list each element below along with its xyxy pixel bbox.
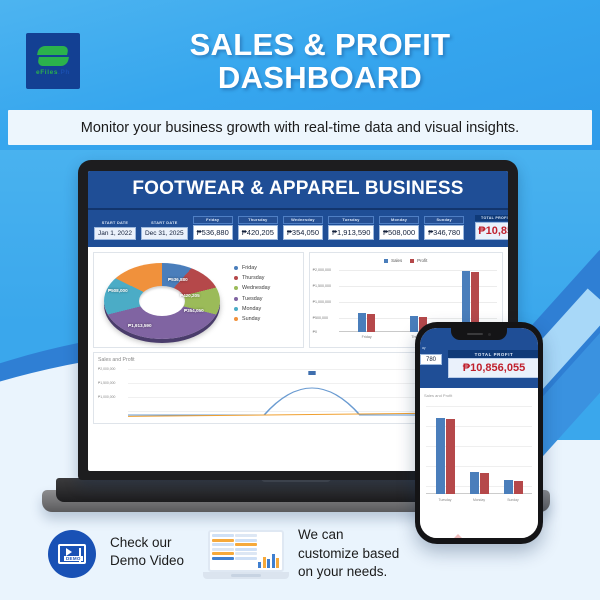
phone-xlabel-monday: Monday [473,498,485,502]
phone-xlabel-sunday: Sunday [507,498,519,502]
demo-badge-label: DEMO [64,556,83,561]
bar-chart-legend: Sales Profit [313,258,499,263]
brand-name: eFiles [36,69,58,76]
bar-friday-sales [358,313,366,332]
kpi-card-sunday-label: Sunday [424,216,464,224]
bar-group-thursday: Thursday [410,268,427,332]
kpi-card-thursday-value: ₱420,205 [238,225,278,240]
kpi-card-monday-label: Monday [379,216,419,224]
demo-video-button[interactable]: DEMO [48,530,96,578]
kpi-card-thursday: Thursday ₱420,205 [238,216,278,240]
phone-mockup: ay 780 TOTAL PROFIT ₱10,856,055 Sales an… [415,322,543,544]
kpi-card-wednesday-value: ₱354,050 [283,225,323,240]
date-filter-start-value[interactable]: Jan 1, 2022 [94,227,136,240]
phone-bar-sunday-profit [514,481,523,495]
mini-laptop-illustration [203,530,289,582]
kpi-card-tuesday-label: Tuesday [328,216,374,224]
phone-total-profit-card: TOTAL PROFIT ₱10,856,055 [448,350,538,378]
mini-laptop-screen [208,530,284,572]
header: eFiles.Ph SALES & PROFIT DASHBOARD Monit… [0,0,600,108]
kpi-card-wednesday: Wednesday ₱354,050 [283,216,323,240]
bar-group-friday: Friday [358,268,375,332]
phone-bar-monday-profit [480,473,489,494]
date-filter-start-label: START DATE [94,220,136,226]
donut-label-wednesday: ₱354,050 [184,308,204,313]
legend-label-profit: Profit [417,258,427,263]
legend-label-friday: Friday [242,265,257,271]
customize-line2: customize based [298,545,399,564]
legend-swatch-wednesday [234,286,238,290]
customize-line3: on your needs. [298,563,399,582]
brand-logo: eFiles.Ph [26,33,80,89]
phone-total-profit-value: ₱10,856,055 [448,358,538,378]
mini-bar-chart-graphic [258,552,280,568]
donut-label-thursday: ₱420,205 [180,293,200,298]
sales-profit-bar-mobile: Tuesday Monday Sunday [424,400,534,504]
page-title-line2: DASHBOARD [110,61,530,94]
legend-item-wednesday[interactable]: Wednesday [234,285,270,291]
donut-chart-panel: ₱536,880 ₱420,205 ₱354,050 ₱1,913,590 ₱5… [93,252,304,348]
demo-video-icon: DEMO [58,544,86,564]
mini-spreadsheet-graphic [212,534,280,568]
kpi-card-total-profit: TOTAL PROFIT ₱10,85 [475,215,508,240]
phone-bar-group-monday: Monday [470,404,489,494]
legend-item-sunday[interactable]: Sunday [234,316,270,322]
page-title-line1: SALES & PROFIT [110,28,530,61]
kpi-card-friday: Friday ₱536,880 [193,216,233,240]
donut-ring [104,263,220,339]
kpi-card-thursday-label: Thursday [238,216,278,224]
date-filter-start[interactable]: START DATE Jan 1, 2022 [94,220,136,240]
phone-screen: ay 780 TOTAL PROFIT ₱10,856,055 Sales an… [420,328,538,538]
legend-item-sales[interactable]: Sales [384,258,402,263]
legend-label-tuesday: Tuesday [242,296,262,302]
sales-by-day-donut: ₱536,880 ₱420,205 ₱354,050 ₱1,913,590 ₱5… [98,257,230,345]
kpi-card-tuesday-value: ₱1,913,590 [328,225,374,240]
legend-item-tuesday[interactable]: Tuesday [234,296,270,302]
legend-label-monday: Monday [242,306,261,312]
donut-label-monday: ₱508,000 [108,288,128,293]
kpi-card-monday-value: ₱508,000 [379,225,419,240]
date-filter-end-value[interactable]: Dec 31, 2025 [141,227,188,240]
donut-legend: Friday Thursday Wednesday Tuesday Monday… [234,265,270,322]
ytick-0: ₱0 [313,330,317,334]
kpi-card-tuesday: Tuesday ₱1,913,590 [328,216,374,240]
kpi-card-wednesday-label: Wednesday [283,216,323,224]
demo-video-line2: Demo Video [110,552,184,570]
phone-bar-sunday-sales [504,480,513,494]
kpi-strip: START DATE Jan 1, 2022 START DATE Dec 31… [88,210,508,247]
bar-thursday-sales [410,316,418,332]
phone-bar-tuesday-profit [446,419,455,494]
demo-video-line1: Check our [110,534,184,552]
legend-swatch-sunday [234,317,238,321]
kpi-card-sunday-value: ₱346,780 [424,225,464,240]
phone-chart-title: Sales and Profit [424,393,534,398]
kpi-card-friday-value: ₱536,880 [193,225,233,240]
page-title: SALES & PROFIT DASHBOARD [110,28,530,95]
phone-speaker-icon [467,333,483,336]
donut-label-tuesday: ₱1,913,590 [128,323,152,328]
line-ytick-1500000: ₱1,500,000 [98,381,115,385]
customize-text: We can customize based on your needs. [298,526,399,582]
legend-label-thursday: Thursday [242,275,264,281]
efiles-e-logo-icon [38,46,68,66]
dashboard-title: FOOTWEAR & APPAREL BUSINESS [88,171,508,210]
legend-swatch-tuesday [234,297,238,301]
phone-xlabel-tuesday: Tuesday [439,498,452,502]
page-subtitle: Monitor your business growth with real-t… [81,120,519,136]
brand-logo-text: eFiles.Ph [36,69,70,76]
phone-bar-group-tuesday: Tuesday [436,404,455,494]
legend-swatch-monday [234,307,238,311]
legend-swatch-thursday [234,276,238,280]
kpi-card-sunday: Sunday ₱346,780 [424,216,464,240]
ytick-1000000: ₱1,000,000 [313,300,331,304]
phone-side-kpi-label: ay [422,346,426,350]
legend-item-thursday[interactable]: Thursday [234,275,270,281]
legend-swatch-sales [384,259,388,263]
line-ytick-2000000: ₱2,000,000 [98,367,115,371]
play-icon [66,548,72,556]
mini-laptop-base [203,572,289,579]
demo-video-text[interactable]: Check our Demo Video [110,534,184,570]
legend-item-friday[interactable]: Friday [234,265,270,271]
phone-bar-monday-sales [470,472,479,495]
subtitle-bar: Monitor your business growth with real-t… [8,110,592,145]
phone-side-kpi-value: 780 [420,354,442,365]
legend-swatch-profit [410,259,414,263]
footer: DEMO Check our Demo Video [0,512,600,600]
legend-item-monday[interactable]: Monday [234,306,270,312]
bar-friday-profit [367,314,375,332]
total-profit-value: ₱10,85 [475,222,508,240]
phone-bar-group-sunday: Sunday [504,404,523,494]
kpi-card-friday-label: Friday [193,216,233,224]
donut-label-friday: ₱536,880 [168,277,188,282]
ytick-2000000: ₱2,000,000 [313,268,331,272]
legend-label-sunday: Sunday [242,316,260,322]
legend-label-sales: Sales [391,258,402,263]
legend-item-profit[interactable]: Profit [410,258,427,263]
phone-notch [451,328,507,340]
date-filter-end-label: START DATE [141,220,188,226]
phone-camera-icon [488,333,491,336]
line-ytick-1000000: ₱1,000,000 [98,395,115,399]
phone-bar-tuesday-sales [436,418,445,494]
legend-swatch-friday [234,266,238,270]
ytick-500000: ₱500,000 [313,316,328,320]
phone-total-profit-label: TOTAL PROFIT [448,350,538,358]
legend-label-wednesday: Wednesday [242,285,270,291]
kpi-card-monday: Monday ₱508,000 [379,216,419,240]
brand-suffix: .Ph [58,69,70,76]
date-filter-end[interactable]: START DATE Dec 31, 2025 [141,220,188,240]
ytick-1500000: ₱1,500,000 [313,284,331,288]
xlabel-friday: Friday [362,335,372,339]
total-profit-label: TOTAL PROFIT [475,215,508,221]
customize-line1: We can [298,526,399,545]
